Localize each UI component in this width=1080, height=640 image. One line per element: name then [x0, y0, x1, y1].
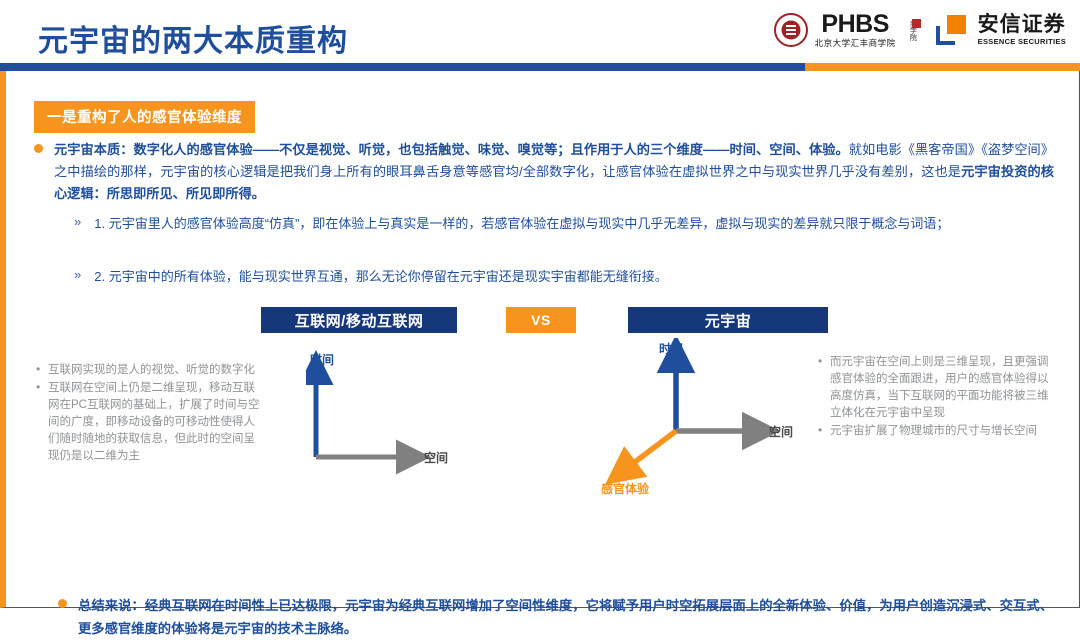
chevron-marker-icon: »	[74, 214, 81, 235]
essence-english-name: ESSENCE SECURITIES	[978, 38, 1066, 46]
main-bullet-lead: 元宇宙本质：数字化人的感官体验——不仅是视觉、听觉，也包括触觉、味觉、嗅觉等；且…	[54, 142, 849, 157]
space-axis-label: 空间	[769, 424, 793, 439]
phbs-chinese-name: 北京大学汇丰商学院	[815, 39, 896, 48]
header-divider-rule	[0, 63, 1080, 71]
logo-area: PHBS 北京大学汇丰商学院 商学院 安信证券 ESSENCE SECURITI…	[774, 12, 1066, 48]
peking-university-seal-icon	[774, 13, 808, 47]
time-axis-label: 时间	[310, 352, 334, 367]
slide-header: 元宇宙的两大本质重构 PHBS 北京大学汇丰商学院 商学院 安信证券 ESSEN…	[0, 0, 1080, 63]
sub-bullet-1: » 1. 元宇宙里人的感官体验高度“仿真”，即在体验上与真实是一样的，若感官体验…	[74, 213, 1054, 235]
essence-blue-bracket-icon	[936, 26, 955, 45]
header-rule-blue-segment	[0, 63, 805, 71]
summary-paragraph: 总结来说：经典互联网在时间性上已达极限，元宇宙为经典互联网增加了空间性维度，它将…	[78, 594, 1053, 640]
chevron-marker-icon: »	[74, 267, 81, 288]
bullet-dot-icon	[34, 144, 43, 153]
main-bullet-paragraph: 元宇宙本质：数字化人的感官体验——不仅是视觉、听觉，也包括触觉、味觉、嗅觉等；且…	[54, 139, 1054, 205]
section-banner: 一是重构了人的感官体验维度	[34, 101, 255, 133]
list-item: 元宇宙扩展了物理城市的尺寸与增长空间	[818, 423, 1058, 440]
list-item: 而元宇宙在空间上则是三维呈现，且更强调感官体验的全面跟进，用户的感官体验得以高度…	[818, 354, 1058, 422]
comparison-header-metaverse: 元宇宙	[628, 307, 828, 333]
red-stamp-mark-icon	[912, 19, 921, 28]
sensory-axis-arrow	[627, 431, 676, 468]
metaverse-axis-diagram: 时间 空间 感官体验	[601, 338, 826, 503]
summary-bullet: 总结来说：经典互联网在时间性上已达极限，元宇宙为经典互联网增加了空间性维度，它将…	[58, 594, 1058, 640]
list-item: 互联网实现的是人的视觉、听觉的数字化	[36, 362, 261, 379]
internet-description-column: 互联网实现的是人的视觉、听觉的数字化 互联网在空间上仍是二维呈现，移动互联网在P…	[36, 362, 261, 466]
sub-bullet-1-text: 1. 元宇宙里人的感官体验高度“仿真”，即在体验上与真实是一样的，若感官体验在虚…	[94, 213, 1049, 235]
essence-securities-mark-icon	[936, 15, 966, 45]
header-rule-orange-segment	[805, 63, 1080, 71]
slide-body-frame: 一是重构了人的感官体验维度 元宇宙本质：数字化人的感官体验——不仅是视觉、听觉，…	[0, 71, 1080, 608]
comparison-header-vs: VS	[506, 307, 576, 333]
space-axis-label: 空间	[424, 450, 448, 465]
sensory-axis-label: 感官体验	[601, 481, 650, 496]
bullet-dot-icon	[58, 599, 67, 608]
list-item: 互联网在空间上仍是二维呈现，移动互联网在PC互联网的基础上，扩展了时间与空间的广…	[36, 380, 261, 465]
sub-bullet-2: » 2. 元宇宙中的所有体验，能与现实世界互通，那么无论你停留在元宇宙还是现实宇…	[74, 266, 1054, 288]
page-title: 元宇宙的两大本质重构	[38, 16, 348, 60]
internet-axis-diagram: 时间 空间	[306, 345, 496, 485]
sub-bullet-2-text: 2. 元宇宙中的所有体验，能与现实世界互通，那么无论你停留在元宇宙还是现实宇宙都…	[94, 266, 1049, 288]
main-bullet: 元宇宙本质：数字化人的感官体验——不仅是视觉、听觉，也包括触觉、味觉、嗅觉等；且…	[34, 139, 1054, 205]
time-axis-label: 时间	[659, 341, 683, 356]
metaverse-description-column: 而元宇宙在空间上则是三维呈现，且更强调感官体验的全面跟进，用户的感官体验得以高度…	[818, 354, 1058, 441]
phbs-logo: PHBS 北京大学汇丰商学院	[815, 12, 896, 48]
essence-securities-logo: 安信证券 ESSENCE SECURITIES	[978, 14, 1066, 46]
essence-chinese-name: 安信证券	[978, 14, 1066, 35]
comparison-header-internet: 互联网/移动互联网	[261, 307, 457, 333]
phbs-abbreviation: PHBS	[821, 12, 888, 37]
phbs-stamp-icon: 商学院	[905, 19, 921, 41]
